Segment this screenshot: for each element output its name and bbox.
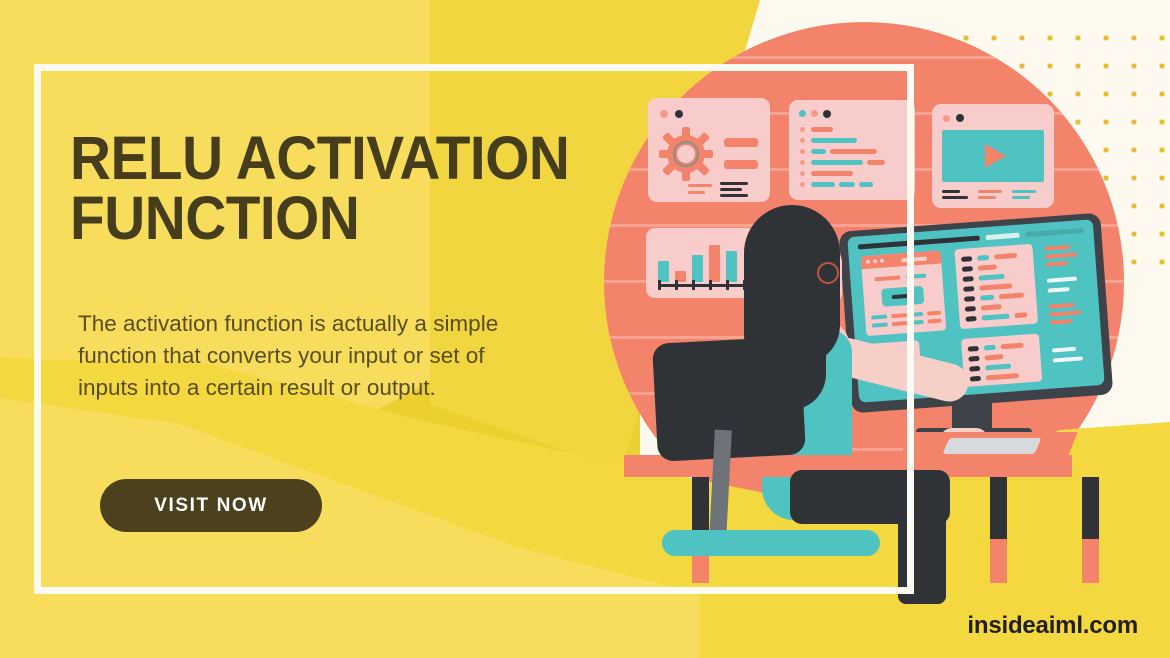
bar-chart-panel [646,228,756,298]
content-line [871,315,887,320]
code-line [984,354,1003,360]
content-line [1044,245,1070,251]
code-bullet-icon [800,138,805,143]
code-line [981,314,1009,321]
code-line [811,127,833,132]
content-line [1050,319,1072,325]
panel-bar [720,194,748,197]
content-line [1046,261,1068,267]
code-line [994,253,1017,260]
content-line [1047,277,1077,283]
screen-titlebar [1025,228,1083,237]
content-line [927,319,941,324]
panel-bar [978,196,996,199]
code-line [811,171,853,176]
chart-bar [658,261,669,282]
code-editor-panel [789,100,915,200]
code-line [979,283,1012,290]
content-line [1048,287,1070,293]
chart-tick [675,280,678,290]
chart-axis [658,284,744,287]
content-line [872,323,888,328]
screen-code-panel-2 [961,333,1042,387]
code-line [1001,343,1024,350]
content-line [1052,347,1076,353]
chart-bar [692,255,703,282]
window-dot-dark-icon [823,110,831,118]
video-player-panel[interactable] [932,104,1054,208]
content-line [1049,303,1075,309]
code-gutter-mark [970,376,981,382]
window-dot-dark-icon [956,114,964,122]
content-line [927,311,941,316]
person-glasses-icon [817,262,839,284]
code-line [859,182,873,187]
code-gutter-mark [961,256,972,262]
content-line [912,320,924,325]
screen-titlebar [985,233,1019,240]
code-line [811,138,857,143]
code-line [981,304,1002,311]
panel-bar [724,160,758,169]
screen-code-panel [954,244,1038,329]
relu-activation-banner: RELU ACTIVATION FUNCTION The activation … [0,0,1170,658]
code-gutter-mark [964,296,975,302]
content-line [892,321,908,326]
code-line [986,373,1019,380]
code-line [811,182,835,187]
code-gutter-mark [962,266,973,272]
panel-bar [942,196,968,199]
panel-bar [688,184,712,187]
code-bullet-icon [800,160,805,165]
panel-bar [720,182,748,185]
content-line [1049,310,1081,316]
content-line [911,312,923,317]
code-bullet-icon [800,182,805,187]
code-gutter-mark [968,346,979,352]
chart-tick [658,280,661,290]
window-dot-orange-icon [811,110,818,117]
gear-icon [658,126,714,182]
play-triangle-icon[interactable] [982,143,1008,169]
chart-tick [692,280,695,290]
code-line [811,149,826,154]
panel-bar [1012,190,1036,193]
code-gutter-mark [962,276,973,282]
code-line [978,264,997,270]
code-line [980,295,994,301]
chart-tick [726,280,729,290]
code-line [977,255,989,261]
code-line [867,160,885,165]
keyboard[interactable] [942,438,1041,454]
code-bullet-icon [800,171,805,176]
chart-bar [709,245,720,282]
desk-leg [1082,477,1099,583]
window-dot-teal-icon [799,110,806,117]
chair-base [662,530,880,556]
code-gutter-mark [969,366,980,372]
code-line [830,149,877,154]
panel-bar [942,190,960,193]
chart-bar [726,251,737,282]
code-bullet-icon [800,127,805,132]
panel-bar [720,188,742,191]
desk-leg [990,477,1007,583]
person-shin [898,492,946,604]
window-dot-orange-icon [660,110,668,118]
code-line [811,160,863,165]
code-line [978,274,1004,281]
code-line [1014,312,1027,318]
visit-now-button[interactable]: VISIT NOW [100,479,322,532]
content-line [874,275,900,281]
code-line [839,182,855,187]
code-gutter-mark [965,316,976,322]
code-gutter-mark [965,306,976,312]
panel-bar [724,138,758,147]
content-line [1053,356,1083,362]
bar-chart [658,238,746,282]
code-gutter-mark [963,286,974,292]
settings-panel [648,98,770,202]
window-dot-orange-icon [943,115,950,122]
screen-titlebar [858,236,980,250]
code-line [985,364,1011,371]
code-bullet-icon [800,149,805,154]
site-url: insideaiml.com [967,612,1138,640]
video-screen [942,130,1044,182]
content-line [906,274,926,279]
window-dot-dark-icon [675,110,683,118]
content-line [1045,252,1077,258]
screen-window-left [861,250,947,336]
content-line [891,313,907,318]
page-title: RELU ACTIVATION FUNCTION [70,128,572,249]
chart-tick [709,280,712,290]
code-line [999,292,1024,299]
code-line [984,345,996,351]
panel-bar [1012,196,1030,199]
panel-bar [688,191,705,194]
page-subtitle: The activation function is actually a si… [78,308,508,404]
code-gutter-mark [968,356,979,362]
panel-bar [978,190,1002,193]
